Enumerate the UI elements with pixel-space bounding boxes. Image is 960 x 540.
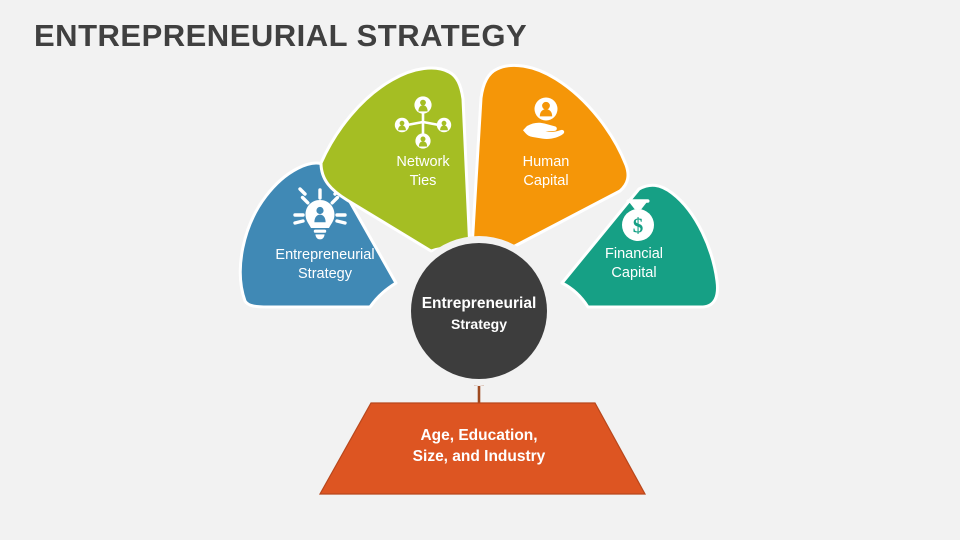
- svg-text:$: $: [633, 214, 644, 238]
- center-circle: [411, 243, 547, 379]
- base-trapezoid[interactable]: Age, Education, Size, and Industry: [320, 403, 645, 494]
- center-node[interactable]: Entrepreneurial Strategy: [404, 236, 554, 386]
- entrepreneurial-strategy-diagram: Entrepreneurial Strategy Network: [0, 0, 960, 540]
- slide-canvas: ENTREPRENEURIAL STRATEGY: [0, 0, 960, 540]
